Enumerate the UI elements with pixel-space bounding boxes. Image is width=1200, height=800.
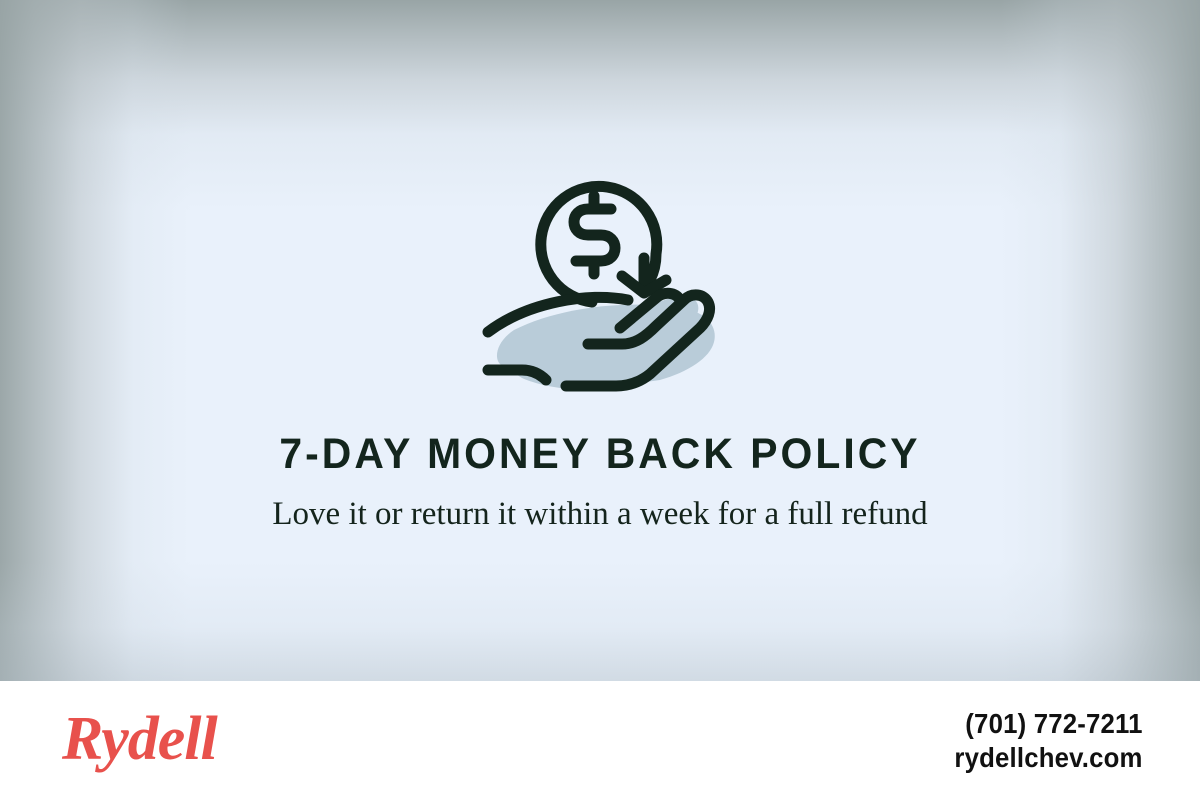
hero-section: 7-DAY MONEY BACK POLICY Love it or retur… bbox=[0, 0, 1200, 681]
page-subtitle: Love it or return it within a week for a… bbox=[250, 492, 950, 537]
phone-number[interactable]: (701) 772-7211 bbox=[955, 707, 1143, 741]
dollar-sign-glyph bbox=[574, 196, 615, 274]
footer-bar: Rydell (701) 772-7211 rydellchev.com bbox=[0, 681, 1200, 800]
icon-container bbox=[0, 150, 1200, 395]
website-url[interactable]: rydellchev.com bbox=[955, 741, 1143, 775]
promo-card: 7-DAY MONEY BACK POLICY Love it or retur… bbox=[0, 0, 1200, 800]
vignette-bottom bbox=[0, 561, 1200, 681]
contact-block: (701) 772-7211 rydellchev.com bbox=[938, 707, 1143, 775]
hand-holding-money-return-icon bbox=[470, 150, 730, 395]
page-title: 7-DAY MONEY BACK POLICY bbox=[30, 430, 1170, 479]
rydell-logo[interactable]: Rydell bbox=[62, 708, 217, 770]
